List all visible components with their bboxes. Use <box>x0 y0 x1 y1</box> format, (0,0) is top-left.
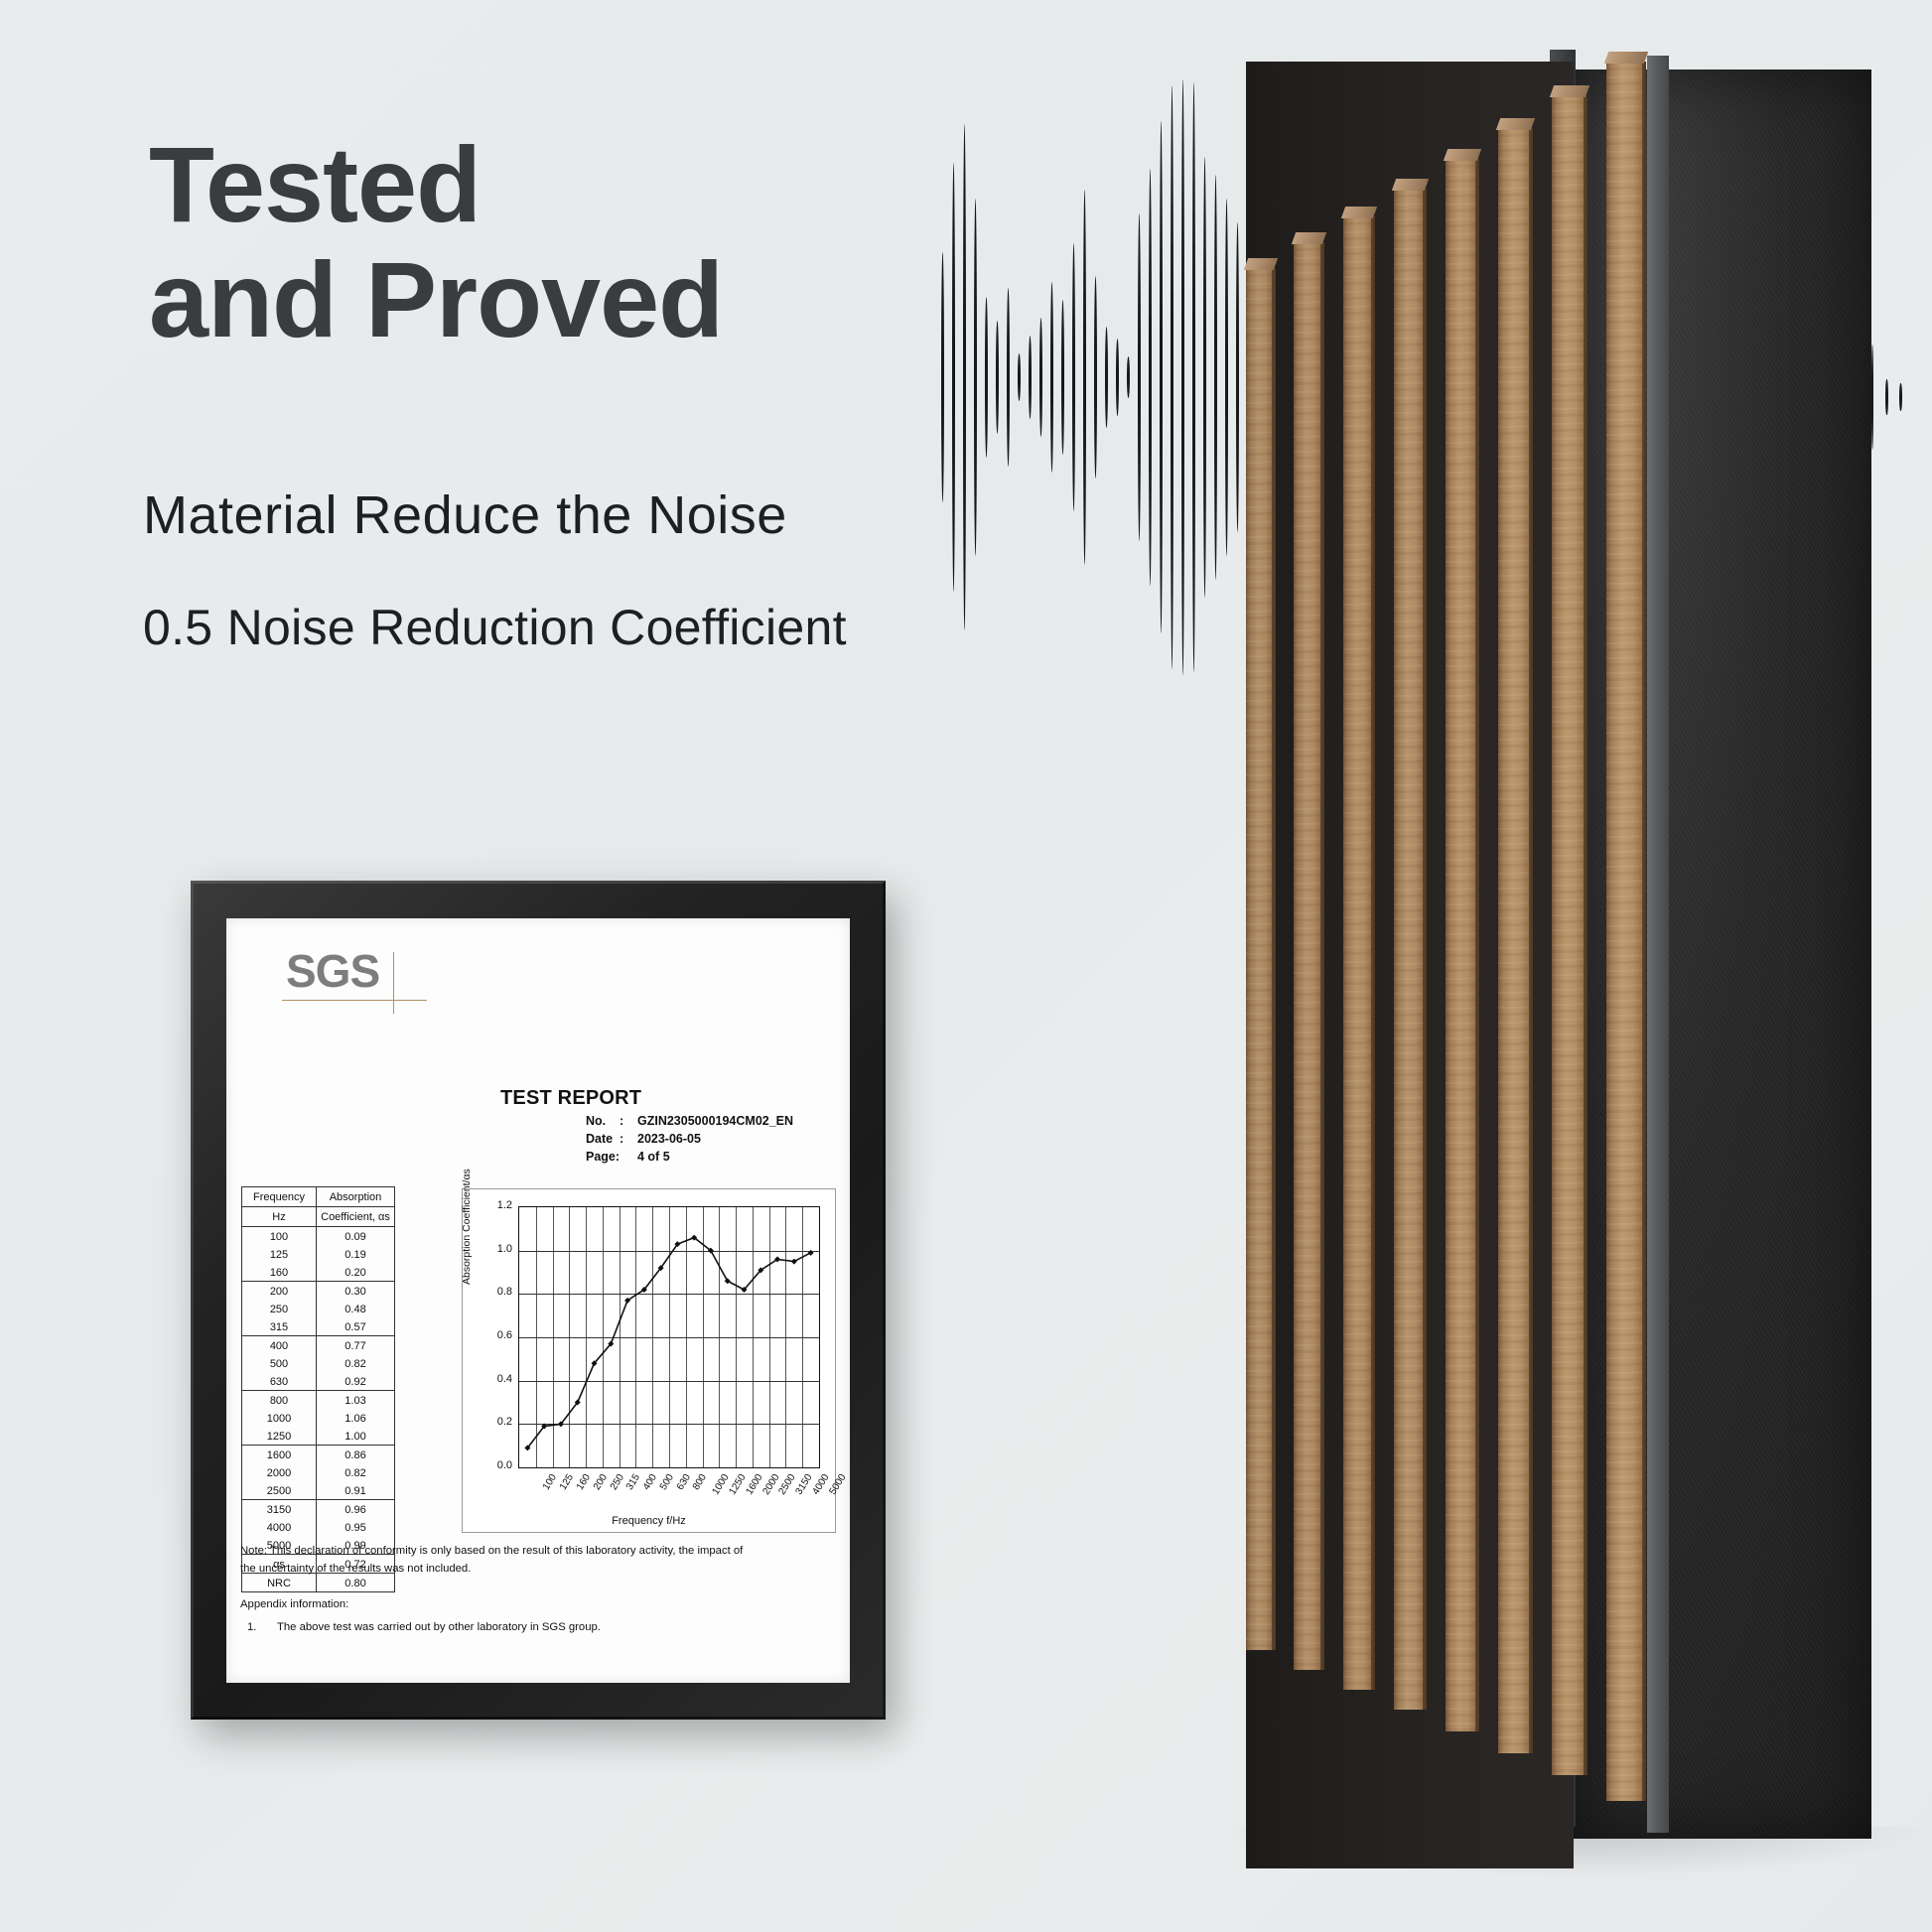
table-row: 1000.09 <box>242 1227 395 1246</box>
cell-frequency: 100 <box>242 1227 317 1246</box>
table-row: 2500.48 <box>242 1300 395 1317</box>
waveform-bar <box>1039 318 1042 437</box>
waveform-bar <box>1149 169 1152 586</box>
table-header-row-2: Hz Coefficient, αs <box>242 1207 395 1227</box>
cell-absorption-coefficient: 0.92 <box>317 1372 395 1391</box>
wood-slat-top-edge <box>1496 118 1535 130</box>
report-meta-row: No.:GZIN2305000194CM02_EN <box>500 1114 793 1128</box>
report-meta-row: Page:4 of 5 <box>500 1150 793 1164</box>
wood-slat-top-edge <box>1604 52 1648 64</box>
wood-slat-top-edge <box>1292 232 1326 244</box>
chart-y-tick: 0.6 <box>483 1329 512 1341</box>
cell-frequency: 400 <box>242 1336 317 1355</box>
chart-x-tick: 500 <box>658 1472 676 1492</box>
appendix-number: 1. <box>240 1618 277 1636</box>
cell-absorption-coefficient: 0.48 <box>317 1300 395 1317</box>
wood-slat-face <box>1446 159 1479 1731</box>
cell-absorption-coefficient: 0.20 <box>317 1263 395 1282</box>
waveform-bar <box>952 163 955 592</box>
table-row: 2000.30 <box>242 1282 395 1301</box>
report-meta-value: 2023-06-05 <box>637 1132 701 1146</box>
wood-slat-top-edge <box>1392 179 1429 191</box>
chart-y-tick: 1.0 <box>483 1243 512 1255</box>
waveform-bar <box>1094 276 1097 479</box>
wood-slat <box>1246 258 1276 1650</box>
table-row: 20000.82 <box>242 1463 395 1481</box>
wood-slat-shadow-side <box>1371 216 1375 1690</box>
wood-slat <box>1552 85 1587 1775</box>
waveform-bar <box>1181 79 1184 675</box>
table-row: 40000.95 <box>242 1518 395 1536</box>
cell-absorption-coefficient: 0.82 <box>317 1354 395 1372</box>
chart-x-tick: 4000 <box>810 1472 831 1497</box>
appendix-title: Appendix information: <box>240 1595 840 1613</box>
wood-slat-top-edge <box>1341 207 1377 218</box>
cell-frequency: 1600 <box>242 1446 317 1464</box>
header-coefficient-alpha: Coefficient, αs <box>317 1207 395 1227</box>
cell-frequency: 500 <box>242 1354 317 1372</box>
table-row: 25000.91 <box>242 1481 395 1500</box>
cell-frequency: 1250 <box>242 1427 317 1446</box>
wood-slat <box>1446 149 1479 1731</box>
chart-y-tick: 0.4 <box>483 1373 512 1385</box>
cell-frequency: 800 <box>242 1391 317 1410</box>
waveform-bar <box>1138 213 1141 541</box>
wood-slat <box>1498 118 1533 1753</box>
waveform-bar <box>1214 175 1217 580</box>
report-meta-label: Page: <box>586 1150 620 1164</box>
waveform-bar <box>1225 199 1228 556</box>
framed-test-certificate: SGS TEST REPORT No.:GZIN2305000194CM02_E… <box>191 881 886 1720</box>
chart-x-tick: 800 <box>691 1472 709 1492</box>
waveform-bar <box>1203 157 1206 598</box>
chart-x-axis-label: Frequency f/Hz <box>463 1515 835 1527</box>
waveform-bar <box>1171 85 1173 669</box>
note-line-2: the uncertainty of the results was not i… <box>240 1560 840 1578</box>
report-header: TEST REPORT No.:GZIN2305000194CM02_ENDat… <box>500 1087 793 1164</box>
incoming-sound-waveform-icon <box>941 69 1284 685</box>
chart-data-point <box>791 1259 797 1265</box>
wood-slat <box>1606 52 1646 1801</box>
wood-slat-top-edge <box>1444 149 1481 161</box>
chart-x-tick: 160 <box>575 1472 593 1492</box>
cell-frequency: 630 <box>242 1372 317 1391</box>
chart-y-tick: 0.8 <box>483 1286 512 1298</box>
absorption-chart: Absorption Coefficient/αs 0.00.20.40.60.… <box>462 1188 836 1533</box>
cell-absorption-coefficient: 1.06 <box>317 1409 395 1427</box>
waveform-bar <box>1105 327 1108 428</box>
report-meta-row: Date:2023-06-05 <box>500 1132 793 1146</box>
report-meta-value: GZIN2305000194CM02_EN <box>637 1114 793 1128</box>
chart-x-tick: 5000 <box>827 1472 848 1497</box>
wood-slat <box>1394 179 1427 1710</box>
waveform-bar <box>941 252 944 502</box>
wood-slat-face <box>1552 95 1587 1775</box>
waveform-bar <box>1116 339 1119 416</box>
chart-y-axis-label: Absorption Coefficient/αs <box>461 1169 473 1285</box>
waveform-bar <box>1018 353 1021 401</box>
waveform-bar <box>1029 336 1032 419</box>
waveform-bar <box>1083 190 1086 565</box>
chart-x-tick: 630 <box>674 1472 692 1492</box>
chart-x-tick: 1600 <box>744 1472 764 1497</box>
waveform-bar <box>1236 222 1239 532</box>
subtitle-material-reduce-noise: Material Reduce the Noise <box>143 484 787 546</box>
cell-absorption-coefficient: 0.95 <box>317 1518 395 1536</box>
headline-line-1: Tested <box>149 127 1042 242</box>
header-absorption: Absorption <box>317 1187 395 1207</box>
report-title: TEST REPORT <box>500 1087 793 1110</box>
chart-x-tick: 315 <box>624 1472 642 1492</box>
report-meta-colon: : <box>620 1114 637 1128</box>
subtitle-nrc-value: 0.5 Noise Reduction Coefficient <box>143 599 847 656</box>
cell-absorption-coefficient: 0.30 <box>317 1282 395 1301</box>
waveform-bar <box>1072 243 1075 511</box>
wood-slat-shadow-side <box>1475 159 1479 1731</box>
panel-end-rail <box>1647 56 1669 1833</box>
sgs-logo-text: SGS <box>286 948 379 994</box>
report-meta-label: Date <box>586 1132 620 1146</box>
certificate-notes: Note: This declaration of conformity is … <box>240 1542 840 1636</box>
wood-slat-shadow-side <box>1642 62 1646 1801</box>
cell-absorption-coefficient: 1.00 <box>317 1427 395 1446</box>
waveform-bar <box>1007 288 1010 467</box>
cell-absorption-coefficient: 0.19 <box>317 1245 395 1263</box>
cell-frequency: 160 <box>242 1263 317 1282</box>
chart-data-point <box>725 1278 731 1284</box>
table-row: 1600.20 <box>242 1263 395 1282</box>
wood-slat-shadow-side <box>1584 95 1587 1775</box>
chart-x-tick: 1250 <box>727 1472 748 1497</box>
sgs-logo: SGS <box>282 948 431 1014</box>
report-meta-colon: : <box>620 1132 637 1146</box>
table-body: 1000.091250.191600.202000.302500.483150.… <box>242 1227 395 1592</box>
table-row: 4000.77 <box>242 1336 395 1355</box>
waveform-bar <box>1192 82 1195 672</box>
chart-y-tick: 1.2 <box>483 1199 512 1211</box>
table-row: 1250.19 <box>242 1245 395 1263</box>
chart-x-tick: 1000 <box>711 1472 732 1497</box>
absorption-coefficient-table: Frequency Absorption Hz Coefficient, αs … <box>241 1186 395 1592</box>
table-row: 3150.57 <box>242 1317 395 1336</box>
waveform-bar <box>985 297 988 458</box>
table-row: 31500.96 <box>242 1500 395 1519</box>
report-meta-list: No.:GZIN2305000194CM02_ENDate:2023-06-05… <box>500 1114 793 1164</box>
chart-line-series <box>519 1207 819 1467</box>
cell-frequency: 4000 <box>242 1518 317 1536</box>
waveform-bar <box>1061 300 1064 455</box>
promo-banner: Tested and Proved Material Reduce the No… <box>0 0 1932 1932</box>
chart-x-tick: 2000 <box>760 1472 781 1497</box>
cell-frequency: 2000 <box>242 1463 317 1481</box>
headline-block: Tested and Proved <box>149 127 1042 356</box>
wood-slat <box>1294 232 1324 1670</box>
cell-absorption-coefficient: 0.86 <box>317 1446 395 1464</box>
report-meta-label: No. <box>586 1114 620 1128</box>
chart-x-tick: 100 <box>541 1472 559 1492</box>
cell-frequency: 2500 <box>242 1481 317 1500</box>
appendix-item: 1. The above test was carried out by oth… <box>240 1618 840 1636</box>
header-unit-hz: Hz <box>242 1207 317 1227</box>
cell-frequency: 3150 <box>242 1500 317 1519</box>
cell-absorption-coefficient: 1.03 <box>317 1391 395 1410</box>
waveform-bar <box>1160 121 1163 633</box>
waveform-bar <box>974 199 977 556</box>
chart-x-tick: 3150 <box>794 1472 815 1497</box>
chart-x-ticks: 1001251602002503154005006308001000125016… <box>518 1470 818 1514</box>
cell-absorption-coefficient: 0.82 <box>317 1463 395 1481</box>
headline-line-2: and Proved <box>149 242 1042 357</box>
chart-x-tick: 200 <box>592 1472 610 1492</box>
header-frequency: Frequency <box>242 1187 317 1207</box>
table-row: 16000.86 <box>242 1446 395 1464</box>
cell-absorption-coefficient: 0.09 <box>317 1227 395 1246</box>
chart-plot-area <box>518 1206 820 1468</box>
cell-absorption-coefficient: 0.96 <box>317 1500 395 1519</box>
wood-slat-face <box>1498 128 1533 1753</box>
note-line-1: Note: This declaration of conformity is … <box>240 1542 840 1560</box>
chart-y-tick: 0.0 <box>483 1459 512 1471</box>
cell-frequency: 200 <box>242 1282 317 1301</box>
table-row: 12501.00 <box>242 1427 395 1446</box>
table-row: 8001.03 <box>242 1391 395 1410</box>
wood-slat-top-edge <box>1550 85 1589 97</box>
cell-absorption-coefficient: 0.91 <box>317 1481 395 1500</box>
table-row: 5000.82 <box>242 1354 395 1372</box>
chart-x-tick: 250 <box>608 1472 625 1492</box>
waveform-bar <box>1050 282 1053 473</box>
certificate-document: SGS TEST REPORT No.:GZIN2305000194CM02_E… <box>226 918 850 1683</box>
chart-data-point <box>808 1250 814 1256</box>
waveform-bar <box>963 124 966 630</box>
table-head: Frequency Absorption Hz Coefficient, αs <box>242 1187 395 1227</box>
cell-frequency: 315 <box>242 1317 317 1336</box>
table-row: 6300.92 <box>242 1372 395 1391</box>
report-meta-colon <box>620 1150 637 1164</box>
wood-slat-acoustic-panel <box>1246 22 1916 1908</box>
wood-slat-shadow-side <box>1320 242 1324 1670</box>
wood-slat <box>1343 207 1375 1690</box>
table-header-row-1: Frequency Absorption <box>242 1187 395 1207</box>
sgs-logo-rule-horizontal <box>282 1000 427 1001</box>
wood-slat-shadow-side <box>1529 128 1533 1753</box>
waveform-bar <box>996 321 999 434</box>
wood-slat-shadow-side <box>1272 268 1276 1650</box>
chart-y-tick: 0.2 <box>483 1416 512 1428</box>
wood-slat-top-edge <box>1244 258 1278 270</box>
table-row: 10001.06 <box>242 1409 395 1427</box>
wood-slat-face <box>1606 62 1646 1801</box>
chart-x-tick: 2500 <box>777 1472 798 1497</box>
cell-absorption-coefficient: 0.57 <box>317 1317 395 1336</box>
chart-x-tick: 125 <box>558 1472 576 1492</box>
cell-frequency: 125 <box>242 1245 317 1263</box>
report-meta-value: 4 of 5 <box>637 1150 670 1164</box>
sgs-logo-rule-vertical <box>393 952 394 1014</box>
appendix-text: The above test was carried out by other … <box>277 1618 601 1636</box>
cell-frequency: 1000 <box>242 1409 317 1427</box>
cell-absorption-coefficient: 0.77 <box>317 1336 395 1355</box>
wood-slat-shadow-side <box>1423 189 1427 1710</box>
waveform-bar <box>1127 356 1130 398</box>
cell-frequency: 250 <box>242 1300 317 1317</box>
chart-x-tick: 400 <box>641 1472 659 1492</box>
